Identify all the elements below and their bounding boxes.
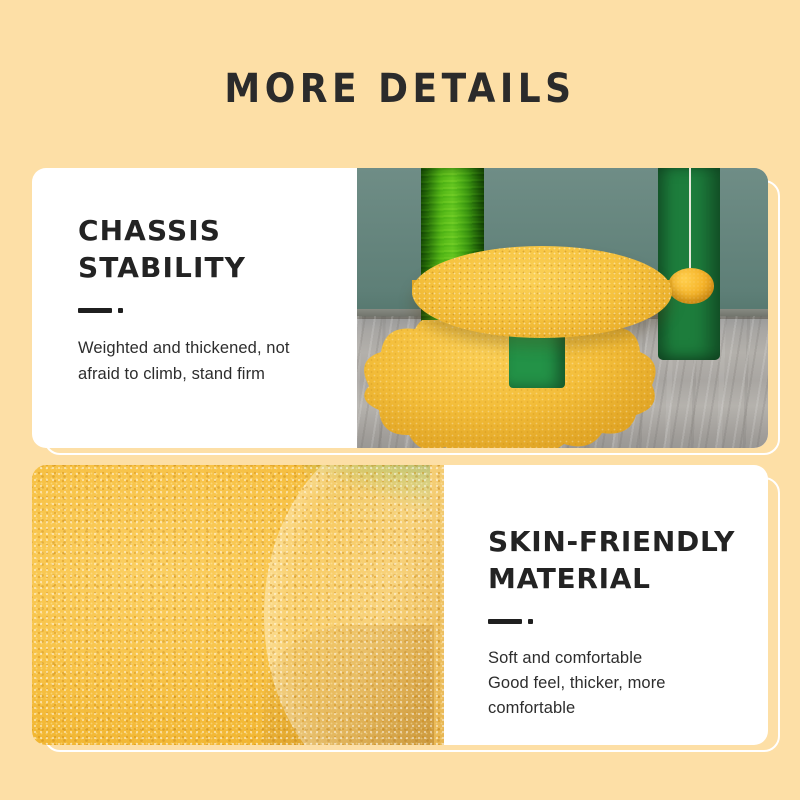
dash-dot-divider-icon — [78, 308, 357, 313]
page-title: MORE DETAILS — [0, 66, 800, 112]
dash-dot-divider-icon — [488, 619, 768, 624]
card-body-text: Weighted and thickened, not afraid to cl… — [78, 335, 330, 387]
pompom-ball-icon — [668, 268, 714, 304]
card-text-block: CHASSIS STABILITY Weighted and thickened… — [32, 168, 357, 448]
plush-fabric-macro-photo — [32, 465, 444, 745]
feature-card-skin-friendly-material: SKIN-FRIENDLY MATERIAL Soft and comforta… — [32, 465, 768, 745]
card-heading: CHASSIS STABILITY — [78, 212, 348, 286]
card-body-text: Soft and comfortable Good feel, thicker,… — [488, 646, 750, 721]
card-text-block: SKIN-FRIENDLY MATERIAL Soft and comforta… — [444, 465, 768, 745]
plush-fiber-texture — [32, 465, 444, 745]
divider-dash — [78, 308, 112, 313]
detail-page: MORE DETAILS CHASSIS STABILITY Weighted … — [0, 0, 800, 800]
card-heading: SKIN-FRIENDLY MATERIAL — [488, 523, 758, 597]
divider-dot — [118, 308, 123, 313]
cat-tree-base-photo — [357, 168, 768, 448]
feature-card-chassis-stability: CHASSIS STABILITY Weighted and thickened… — [32, 168, 768, 448]
plush-platform — [412, 246, 672, 338]
divider-dot — [528, 619, 533, 624]
toy-string — [689, 168, 691, 276]
divider-dash — [488, 619, 522, 624]
